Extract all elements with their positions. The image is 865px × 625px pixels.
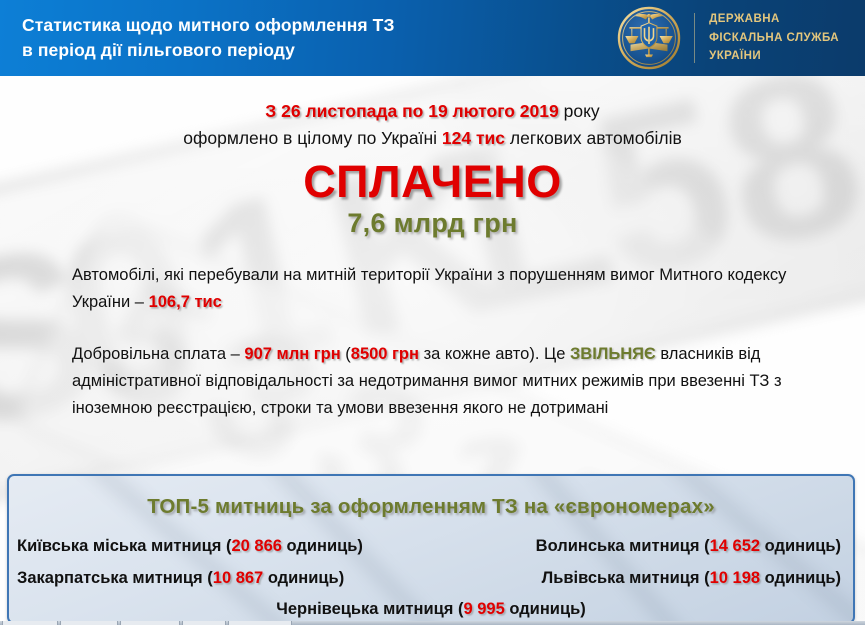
top5-row-chernivtsi: Чернівецька митниця (9 995 одиниць) [9,597,853,623]
taskbar-item[interactable] [182,621,226,625]
top5-inner: ТОП-5 митниць за оформленням ТЗ на «євро… [9,495,853,623]
taskbar-item[interactable] [60,621,118,625]
state-fiscal-service-emblem-icon [616,5,682,71]
lead-line-2: оформлено в цілому по Україні 124 тис ле… [0,125,865,152]
lead-line-1: З 26 листопада по 19 лютого 2019 року [0,98,865,125]
period-highlight: З 26 листопада по 19 лютого 2019 [265,101,558,121]
customs-name-head: Львівська митниця ( [542,569,710,587]
paid-amount: 7,6 млрд грн [0,207,865,239]
top5-row-lviv: Львівська митниця (10 198 одиниць) [431,566,853,592]
voluntary-head: Добровільна сплата – [72,345,244,363]
period-tail: року [559,101,600,121]
customs-name-tail: одиниць) [760,569,841,587]
voluntary-paren-open: ( [341,345,351,363]
top5-title: ТОП-5 митниць за оформленням ТЗ на «євро… [9,495,853,519]
customs-value: 9 995 [463,600,504,618]
paragraph-zone: Автомобілі, які перебували на митній тер… [0,262,865,422]
customs-name-head: Київська міська митниця ( [17,537,231,555]
brand-block: ДЕРЖАВНА ФІСКАЛЬНА СЛУЖБА УКРАЇНИ [616,0,839,76]
brand-line-1: ДЕРЖАВНА [709,10,839,29]
main-content: З 26 листопада по 19 лютого 2019 року оф… [0,76,865,421]
exempts-keyword: ЗВІЛЬНЯЄ [570,345,656,363]
top5-row-zakarpattia: Закарпатська митниця (10 867 одиниць) [9,566,431,592]
voluntary-per-car: 8500 грн [351,345,419,363]
customs-name-tail: одиниць) [760,537,841,555]
top5-panel: ТОП-5 митниць за оформленням ТЗ на «євро… [7,474,855,624]
voluntary-mid: за кожне авто). Це [419,345,570,363]
paragraph-voluntary-payment: Добровільна сплата – 907 млн грн (8500 г… [72,341,793,421]
customs-value: 20 866 [231,537,281,555]
taskbar-item[interactable] [120,621,180,625]
customs-name-tail: одиниць) [282,537,363,555]
top5-list: Київська міська митниця (20 866 одиниць)… [9,534,853,623]
brand-line-3: УКРАЇНИ [709,47,839,66]
customs-name-head: Чернівецька митниця ( [276,600,463,618]
top5-row-kyiv: Київська міська митниця (20 866 одиниць) [9,534,431,560]
top5-row-volyn: Волинська митниця (14 652 одиниць) [431,534,853,560]
paid-headline: СПЛАЧЕНО [0,158,865,205]
infographic-page: S 0 1 K L 5 8 5 3 3 1 [0,0,865,625]
registered-tail: легкових автомобілів [505,128,682,148]
brand-divider [694,13,695,63]
brand-name: ДЕРЖАВНА ФІСКАЛЬНА СЛУЖБА УКРАЇНИ [709,10,839,66]
customs-name-tail: одиниць) [263,569,344,587]
taskbar-item[interactable] [2,621,58,625]
customs-name-tail: одиниць) [505,600,586,618]
taskbar-sliver[interactable] [0,621,865,625]
voluntary-total: 907 млн грн [244,345,340,363]
page-title-line-1: Статистика щодо митного оформлення ТЗ [22,13,612,38]
customs-value: 10 198 [710,569,760,587]
customs-value: 10 867 [213,569,263,587]
lead-block: З 26 листопада по 19 лютого 2019 року оф… [0,76,865,240]
customs-name-head: Закарпатська митниця ( [17,569,213,587]
customs-name-head: Волинська митниця ( [536,537,710,555]
paragraph-violations: Автомобілі, які перебували на митній тер… [72,262,793,315]
violations-count: 106,7 тис [149,293,222,311]
brand-line-2: ФІСКАЛЬНА СЛУЖБА [709,29,839,48]
registered-head: оформлено в цілому по Україні [183,128,442,148]
registered-count: 124 тис [442,128,505,148]
page-header: Статистика щодо митного оформлення ТЗ в … [0,0,865,76]
page-title-line-2: в період дії пільгового періоду [22,38,612,63]
page-title: Статистика щодо митного оформлення ТЗ в … [22,13,612,63]
taskbar-item[interactable] [228,621,292,625]
customs-value: 14 652 [710,537,760,555]
